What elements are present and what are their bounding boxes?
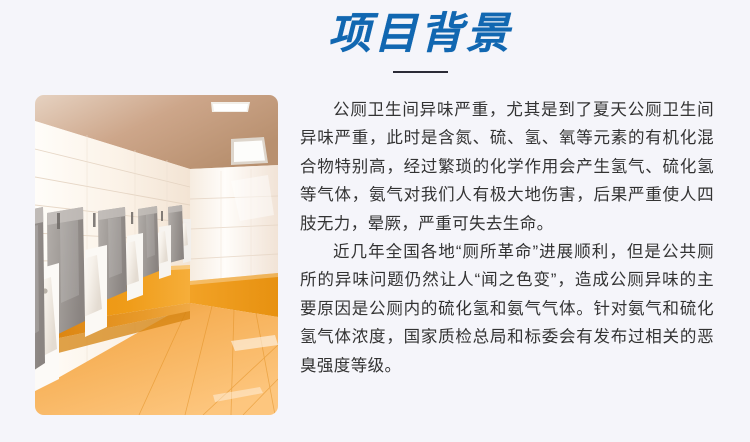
title-divider [393, 71, 448, 73]
public-restroom-urinals-photo [35, 95, 278, 415]
article-body: 公厕卫生间异味严重，尤其是到了夏天公厕卫生间异味严重，此时是含氮、硫、氢、氧等元… [300, 96, 714, 380]
restroom-scene-illustration [35, 95, 278, 415]
page-title: 项目背景 [328, 12, 512, 57]
ceiling-light-icon [211, 102, 250, 112]
section-header: 项目背景 [0, 0, 750, 92]
article-paragraph-2: 近几年全国各地“厕所革命”进展顺利，但是公共厕所的异味问题仍然让人“闻之色变”，… [300, 238, 714, 380]
ceiling-light-icon [231, 137, 268, 165]
article-paragraph-1: 公厕卫生间异味严重，尤其是到了夏天公厕卫生间异味严重，此时是含氮、硫、氢、氧等元… [300, 96, 714, 238]
